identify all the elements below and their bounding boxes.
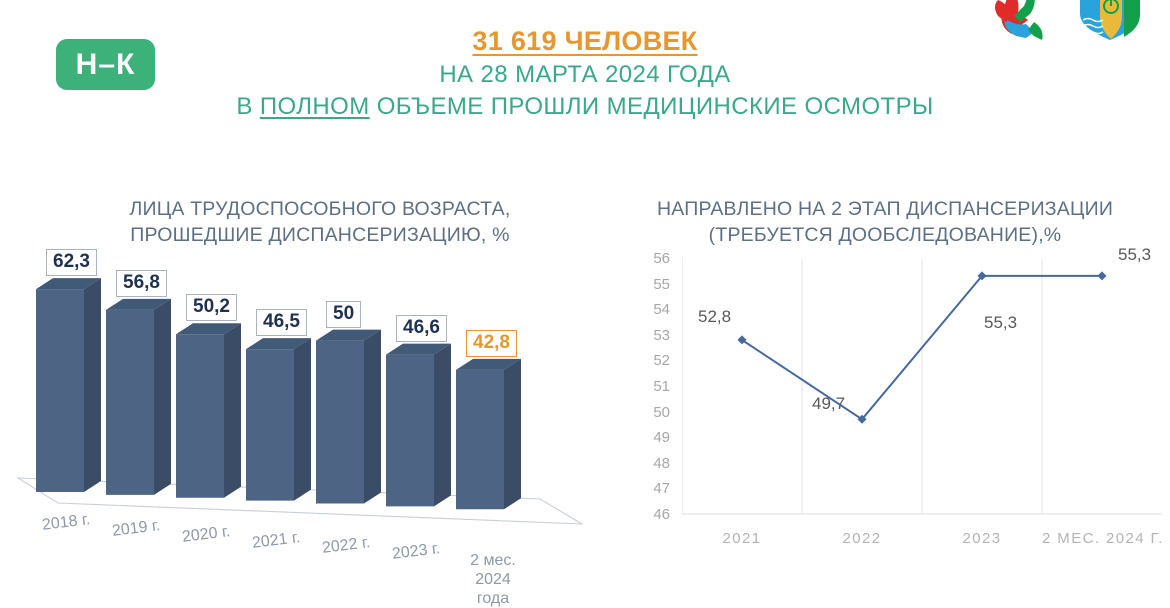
bar-front-face <box>456 370 504 509</box>
bar-side-face <box>224 323 241 498</box>
line-chart-y-tick: 54 <box>634 302 670 317</box>
line-chart-title-line1: НАПРАВЛЕНО НА 2 ЭТАП ДИСПАНСЕРИЗАЦИИ <box>620 196 1150 222</box>
bar-value-label: 46,5 <box>256 309 307 336</box>
bar-category-label: 2 мес. 2024 года <box>461 551 525 608</box>
line-chart-y-tick: 56 <box>634 251 670 266</box>
bar-value-label: 50 <box>326 301 361 328</box>
line-chart-svg <box>682 250 1162 550</box>
bar-chart-title: ЛИЦА ТРУДОСПОСОБНОГО ВОЗРАСТА, ПРОШЕДШИЕ… <box>60 196 580 248</box>
bar-side-face <box>504 359 521 509</box>
line-chart-point-label: 55,3 <box>1118 246 1151 264</box>
line-chart-y-tick: 50 <box>634 405 670 420</box>
bar-chart-svg <box>0 250 600 550</box>
line-chart-point-label: 49,7 <box>812 395 845 413</box>
line-chart-y-tick: 48 <box>634 456 670 471</box>
bar-chart-title-line1: ЛИЦА ТРУДОСПОСОБНОГО ВОЗРАСТА, <box>60 196 580 222</box>
bar-side-face <box>364 330 381 504</box>
headline-sub-before: В <box>236 93 259 120</box>
line-chart-y-tick: 51 <box>634 379 670 394</box>
line-chart-y-tick: 53 <box>634 328 670 343</box>
line-chart-x-tick: 2021 <box>682 530 802 547</box>
headline-subtitle: В ПОЛНОМ ОБЪЕМЕ ПРОШЛИ МЕДИЦИНСКИЕ ОСМОТ… <box>0 91 1170 122</box>
headline-sub-after: ОБЪЕМЕ ПРОШЛИ МЕДИЦИНСКИЕ ОСМОТРЫ <box>370 93 934 120</box>
headline-sub-underlined: ПОЛНОМ <box>260 93 370 120</box>
bar-value-label: 56,8 <box>116 270 167 297</box>
bar-side-face <box>294 338 311 500</box>
bar-chart: 62,356,850,246,55046,642,8 2018 г.2019 г… <box>0 250 600 607</box>
bar-front-face <box>246 349 294 500</box>
line-chart: 5655545352515049484746 2021202220232 МЕС… <box>620 250 1170 590</box>
line-chart-point-label: 52,8 <box>698 308 731 326</box>
bar-value-label: 50,2 <box>186 294 237 321</box>
bar-category-label: 2022 г. <box>321 534 371 559</box>
line-chart-y-tick: 52 <box>634 353 670 368</box>
line-chart-y-tick: 46 <box>634 507 670 522</box>
bar-front-face <box>36 289 84 492</box>
bar-side-face <box>84 278 101 492</box>
headline-date: НА 28 МАРТА 2024 ГОДА <box>0 59 1170 90</box>
headline-count: 31 619 ЧЕЛОВЕК <box>0 26 1170 56</box>
line-chart-y-tick: 55 <box>634 277 670 292</box>
line-chart-y-tick: 49 <box>634 430 670 445</box>
line-chart-x-tick: 2 МЕС. 2024 Г. <box>1042 530 1162 547</box>
bar-value-label: 62,3 <box>46 249 97 276</box>
bar-side-face <box>154 299 171 495</box>
line-chart-x-tick: 2023 <box>922 530 1042 547</box>
line-chart-point-label: 55,3 <box>984 314 1017 332</box>
line-chart-title: НАПРАВЛЕНО НА 2 ЭТАП ДИСПАНСЕРИЗАЦИИ (ТР… <box>620 196 1150 248</box>
bar-front-face <box>106 310 154 495</box>
bar-category-label: 2023 г. <box>391 539 441 564</box>
line-chart-marker <box>1098 271 1107 280</box>
line-chart-title-line2: (ТРЕБУЕТСЯ ДООБСЛЕДОВАНИЕ),% <box>620 222 1150 248</box>
bar-front-face <box>316 341 364 504</box>
bar-value-label: 42,8 <box>466 330 517 357</box>
line-chart-x-tick: 2022 <box>802 530 922 547</box>
bar-value-label: 46,6 <box>396 315 447 342</box>
bar-side-face <box>434 344 451 507</box>
bar-front-face <box>386 355 434 507</box>
header-block: 31 619 ЧЕЛОВЕК НА 28 МАРТА 2024 ГОДА В П… <box>0 26 1170 122</box>
line-chart-y-tick: 47 <box>634 481 670 496</box>
bar-chart-title-line2: ПРОШЕДШИЕ ДИСПАНСЕРИЗАЦИЮ, % <box>60 222 580 248</box>
bar-front-face <box>176 334 224 498</box>
